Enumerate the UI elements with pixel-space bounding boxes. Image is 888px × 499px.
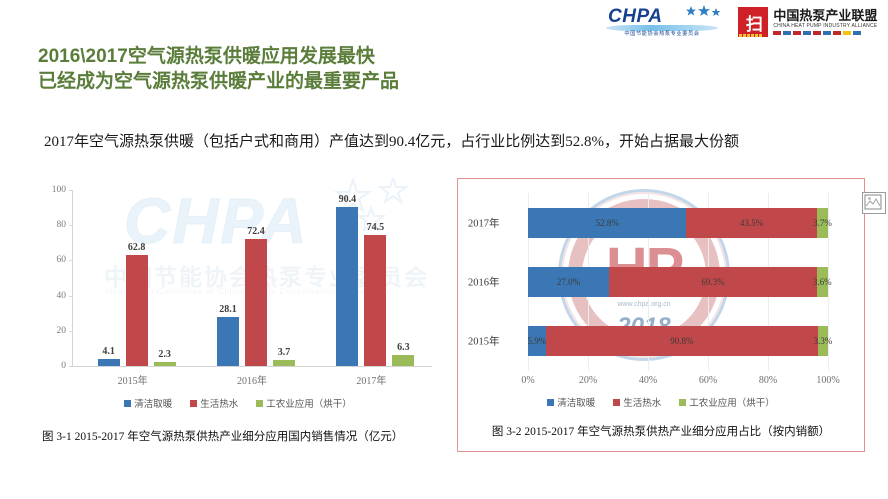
chart-right-x-tick: 60%	[699, 375, 717, 386]
chart-right-segment-value: 43.5%	[740, 218, 763, 228]
chart-left-x-label: 2015年	[118, 372, 148, 387]
chart-left-bar-value: 28.1	[219, 304, 237, 315]
chart-right-x-tick: 100%	[816, 375, 839, 386]
chart-left-bar: 74.5	[364, 235, 386, 366]
chart-left-x-labels: 2015年2016年2017年	[73, 372, 431, 390]
chart-right-legend-label: 生活热水	[623, 395, 661, 409]
chart-left-caption: 图 3-1 2015-2017 年空气源热泵供热产业细分应用国内销售情况（亿元）	[42, 428, 403, 444]
chart-right-legend-label: 工农业应用（烘干）	[689, 395, 775, 409]
chart-left-legend-item[interactable]: 生活热水	[190, 396, 238, 410]
chart-left-y-tick: 60	[57, 255, 67, 265]
legend-swatch-icon	[256, 400, 263, 407]
chart-left-y-tick-mark	[69, 296, 73, 297]
chart-right-legend-item[interactable]: 工农业应用（烘干）	[679, 395, 775, 409]
chart-left-x-axis-line	[72, 366, 432, 367]
chart-left-bars: 4.162.82.328.172.43.790.474.56.3	[73, 190, 431, 366]
chart-left-legend-label: 工农业应用（烘干）	[266, 396, 352, 410]
chart-right-bar-segment: 3.3%	[818, 326, 828, 356]
chart-right-x-labels: 0%20%40%60%80%100%	[528, 375, 828, 391]
chart-right-segment-value: 90.8%	[670, 336, 693, 346]
chart-left-legend-item[interactable]: 清洁取暖	[124, 396, 172, 410]
legend-swatch-icon	[679, 399, 686, 406]
chart-left-bar-value: 2.3	[158, 349, 171, 360]
chart-left-bar: 6.3	[392, 355, 414, 366]
chart-right-bar-segment: 3.6%	[817, 267, 828, 297]
chart-left-bar-value: 74.5	[367, 222, 385, 233]
alliance-color-bar	[773, 31, 877, 35]
chart-right-legend-item[interactable]: 生活热水	[613, 395, 661, 409]
chart-left-y-tick: 20	[57, 326, 67, 336]
chart-left-y-tick-mark	[69, 331, 73, 332]
chart-left-bar-value: 4.1	[102, 346, 115, 357]
chart-left-bar-value: 90.4	[339, 194, 357, 205]
legend-swatch-icon	[124, 400, 131, 407]
legend-swatch-icon	[613, 399, 620, 406]
broken-image-icon	[862, 192, 886, 214]
chart-right-bar-segment: 69.3%	[609, 267, 817, 297]
chart-left-y-tick: 80	[57, 220, 67, 230]
chart-right-legend-label: 清洁取暖	[557, 395, 595, 409]
chart-left-x-label: 2017年	[356, 372, 386, 387]
chart-right-bar-row: 52.8%43.5%3.7%	[528, 208, 828, 238]
chart-right-bar-segment: 3.7%	[817, 208, 828, 238]
chart-right-x-tick: 80%	[759, 375, 777, 386]
alliance-logo: 扫 中国热泵产业联盟 CHINA HEAT PUMP INDUSTRY ALLI…	[738, 6, 884, 38]
slide-subtitle: 2017年空气源热泵供暖（包括户式和商用）产值达到90.4亿元，占行业比例达到5…	[44, 130, 864, 151]
chart-left-y-tick: 40	[57, 291, 67, 301]
chart-right-bar-segment: 90.8%	[546, 326, 818, 356]
chart-right-bar-segment: 43.5%	[686, 208, 817, 238]
chart-left-plot: 020406080100 4.162.82.328.172.43.790.474…	[36, 182, 440, 384]
chart-right-y-label: 2016年	[468, 275, 500, 290]
chart-right-segment-value: 3.7%	[813, 218, 832, 228]
alliance-logo-text: 中国热泵产业联盟 CHINA HEAT PUMP INDUSTRY ALLIAN…	[773, 9, 877, 35]
chart-right-bar-segment: 5.9%	[528, 326, 546, 356]
chart-right-x-tick: 20%	[579, 375, 597, 386]
chart-left-legend-label: 生活热水	[200, 396, 238, 410]
chart-right-x-tick: 0%	[521, 375, 534, 386]
alliance-logo-cn: 中国热泵产业联盟	[773, 9, 877, 23]
chpa-stars-icon	[683, 5, 723, 21]
chart-left-bar: 4.1	[98, 359, 120, 366]
chpa-logo: CHPA 中国节能协会热泵专业委员会	[598, 5, 720, 39]
chart-left-bar-value: 6.3	[397, 342, 410, 353]
chart-left-y-tick-mark	[69, 366, 73, 367]
chart-left-bar: 28.1	[217, 317, 239, 366]
alliance-mark-glyph: 扫	[740, 9, 766, 35]
chart-left-bar-value: 3.7	[278, 347, 291, 358]
chart-left-y-tick: 100	[52, 185, 66, 195]
chart-right-y-label: 2015年	[468, 334, 500, 349]
chart-right-segment-value: 3.6%	[813, 277, 832, 287]
chpa-logo-subtitle: 中国节能协会热泵专业委员会	[602, 30, 722, 37]
chart-left-bar: 62.8	[126, 255, 148, 366]
chart-right-bar-segment: 52.8%	[528, 208, 686, 238]
chart-right-segment-value: 52.8%	[596, 218, 619, 228]
chart-right: HP www.chpa.org.cn 2018 52.8%43.5%3.7%27…	[458, 179, 864, 451]
chart-left-bar: 2.3	[154, 362, 176, 366]
alliance-logo-en: CHINA HEAT PUMP INDUSTRY ALLIANCE	[773, 23, 877, 30]
chart-left-bar-group: 4.162.82.3	[98, 190, 176, 366]
chart-left-legend: 清洁取暖生活热水工农业应用（烘干）	[36, 396, 440, 410]
chart-right-segment-value: 69.3%	[701, 277, 724, 287]
header-logos: CHPA 中国节能协会热泵专业委员会 扫 中国热泵产业联盟 CHINA HEAT…	[598, 4, 884, 40]
chart-left-bar-group: 28.172.43.7	[217, 190, 295, 366]
slide-canvas: CHPA 中国节能协会热泵专业委员会 扫 中国热泵产业联盟 CHINA HEAT…	[0, 0, 888, 499]
chart-right-caption: 图 3-2 2015-2017 年空气源热泵供热产业细分应用占比（按内销额）	[458, 423, 864, 439]
chart-right-bar-row: 27.0%69.3%3.6%	[528, 267, 828, 297]
chart-left-bar-value: 72.4	[247, 226, 265, 237]
chart-right-segment-value: 3.3%	[814, 336, 833, 346]
chart-left-bar: 90.4	[336, 207, 358, 366]
alliance-mark-dots	[739, 34, 762, 37]
chart-left-bar: 3.7	[273, 360, 295, 367]
chart-right-segment-value: 5.9%	[527, 336, 546, 346]
slide-title: 2016\2017空气源热泵供暖应用发展最快 已经成为空气源热泵供暖产业的最重要…	[38, 44, 598, 94]
chart-right-panel: HP www.chpa.org.cn 2018 52.8%43.5%3.7%27…	[457, 178, 865, 452]
legend-swatch-icon	[547, 399, 554, 406]
chart-left-y-tick: 0	[61, 361, 66, 371]
alliance-mark-icon: 扫	[738, 7, 768, 37]
chart-right-bar-row: 5.9%90.8%3.3%	[528, 326, 828, 356]
chart-right-bar-segment: 27.0%	[528, 267, 609, 297]
slide-title-line2: 已经成为空气源热泵供暖产业的最重要产品	[38, 69, 598, 94]
chart-left-x-label: 2016年	[237, 372, 267, 387]
slide-title-line1: 2016\2017空气源热泵供暖应用发展最快	[38, 44, 598, 69]
chart-left-legend-item[interactable]: 工农业应用（烘干）	[256, 396, 352, 410]
chpa-logo-acronym: CHPA	[608, 7, 662, 26]
chart-left: CHPA 中国节能协会热泵专业委员会 Heat Pump Committee o…	[36, 182, 440, 450]
chart-left-y-axis: 020406080100	[36, 182, 70, 366]
chart-left-y-tick-mark	[69, 225, 73, 226]
chart-right-segment-value: 27.0%	[557, 277, 580, 287]
chart-right-x-tick: 40%	[639, 375, 657, 386]
legend-swatch-icon	[190, 400, 197, 407]
chart-right-legend: 清洁取暖生活热水工农业应用（烘干）	[458, 395, 864, 409]
chart-left-y-tick-mark	[69, 260, 73, 261]
chart-left-bar: 72.4	[245, 239, 267, 366]
chart-right-plot: 52.8%43.5%3.7%27.0%69.3%3.6%5.9%90.8%3.3…	[528, 193, 828, 371]
chart-left-y-tick-mark	[69, 190, 73, 191]
chart-right-legend-item[interactable]: 清洁取暖	[547, 395, 595, 409]
chart-left-bar-group: 90.474.56.3	[336, 190, 414, 366]
chart-right-y-label: 2017年	[468, 215, 500, 230]
chart-left-bar-value: 62.8	[128, 242, 146, 253]
chart-left-legend-label: 清洁取暖	[134, 396, 172, 410]
